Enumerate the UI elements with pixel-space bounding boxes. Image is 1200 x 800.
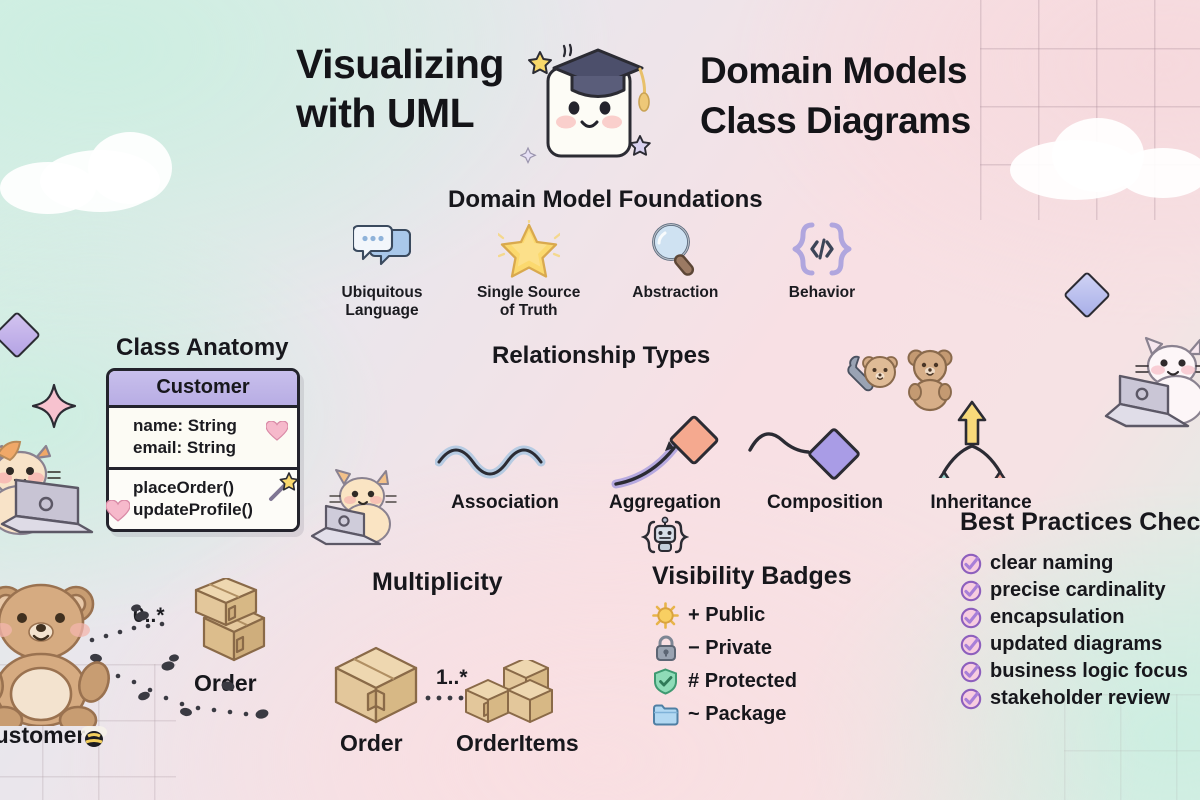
class-name: Customer [109,371,297,408]
checklist-item[interactable]: precise cardinality [960,579,1200,602]
sun-icon [652,602,679,629]
checklist-item[interactable]: stakeholder review [960,687,1200,710]
graduation-marshmallow-mascot [520,40,670,170]
visibility-badges-list: + Public − Private # Protected [652,596,797,728]
robot-icon [641,516,689,558]
checklist-item-label: precise cardinality [990,579,1166,602]
checklist-item-label: clear naming [990,552,1113,575]
package-box-single-icon [328,644,424,730]
visibility-label: ~ Package [688,703,786,726]
relationship-label: Composition [750,492,900,514]
foundations-row: Ubiquitous Language Single Source of Tru… [322,218,882,328]
visibility-label: # Protected [688,670,797,693]
foundation-label: Single Source of Truth [469,284,589,320]
laptop-cat-left [0,428,98,540]
check-circle-icon [960,580,982,602]
relationship-item-association: Association [430,414,580,514]
bee-icon [78,724,108,750]
foundation-item-abstraction: Abstraction [615,218,735,328]
checklist-item-label: encapsulation [990,606,1124,629]
relationship-types-row: Association Aggregation [430,390,1070,510]
magic-wand-icon [268,472,298,502]
purple-diamond-left [0,311,41,359]
check-circle-icon [960,634,982,656]
page-title-right: Domain Models Class Diagrams [700,46,971,146]
relationship-item-aggregation: Aggregation [590,414,740,563]
title-left-line-2: with UML [296,89,504,138]
class-diagram-box[interactable]: Customer name: String email: String plac… [106,368,300,532]
foundation-item-single-source-of-truth: Single Source of Truth [469,218,589,328]
multiplicity-title: Multiplicity [372,568,503,597]
foundation-item-behavior: Behavior [762,218,882,328]
magnifying-glass-icon [615,218,735,280]
foundation-label: Ubiquitous Language [322,284,442,320]
hollow-diamond-arrow-glyph [590,414,740,492]
best-practices-checklist: clear naming precise cardinality encapsu… [960,548,1200,710]
visibility-badges-title: Visibility Badges [652,562,852,591]
folder-icon [652,701,679,728]
grid-pattern-top-right [980,0,1200,220]
dotted-connector [424,688,474,708]
foundations-title: Domain Model Foundations [448,186,763,214]
heart-icon [106,500,130,522]
checklist-title: Best Practices Checklist [960,508,1200,537]
star-icon [469,218,589,280]
lock-icon [652,635,679,662]
relationship-item-composition: Composition [750,414,900,514]
wavy-line-glyph [430,414,580,492]
multiplicity-target-2: OrderItems [456,730,579,757]
class-anatomy-title: Class Anatomy [116,334,289,362]
relationship-item-inheritance: Inheritance [908,414,1058,514]
foundation-label: Behavior [762,284,882,302]
multiplicity-source-2: Order [340,730,403,757]
visibility-item-protected: # Protected [652,668,797,695]
laptop-cat-right [1104,336,1200,436]
shield-check-icon [652,668,679,695]
visibility-item-package: ~ Package [652,701,797,728]
checklist-item-label: business logic focus [990,660,1188,683]
relationship-types-title: Relationship Types [492,342,710,370]
checklist-item-label: updated diagrams [990,633,1162,656]
class-method: updateProfile() [133,499,297,521]
check-circle-icon [960,607,982,629]
check-circle-icon [960,688,982,710]
checklist-item[interactable]: updated diagrams [960,633,1200,656]
triangle-arrow-hierarchy-glyph [908,414,1058,492]
checklist-item[interactable]: clear naming [960,552,1200,575]
checklist-item[interactable]: business logic focus [960,660,1200,683]
foundation-item-ubiquitous-language: Ubiquitous Language [322,218,442,328]
blue-diamond-right [1063,271,1111,319]
speech-bubbles-icon [322,218,442,280]
visibility-item-private: − Private [652,635,797,662]
visibility-label: + Public [688,604,765,627]
visibility-item-public: + Public [652,602,797,629]
teddy-bear-bottom-left [0,578,122,726]
package-boxes-group-icon [462,660,558,734]
title-left-line-1: Visualizing [296,40,504,89]
visibility-label: − Private [688,637,772,660]
title-right-line-1: Domain Models [700,46,971,96]
laptop-cat-center [302,462,406,548]
check-circle-icon [960,661,982,683]
page-title-left: Visualizing with UML [296,40,504,138]
code-braces-icon [762,218,882,280]
title-right-line-2: Class Diagrams [700,96,971,146]
heart-icon [266,421,288,441]
bear-pair-with-wrench [846,344,958,416]
foundation-label: Abstraction [615,284,735,302]
checklist-item[interactable]: encapsulation [960,606,1200,629]
pink-sparkle-left [30,382,78,430]
relationship-label: Association [430,492,580,514]
check-circle-icon [960,553,982,575]
relationship-label: Aggregation [590,492,740,514]
checklist-item-label: stakeholder review [990,687,1170,710]
filled-diamond-glyph [750,414,900,492]
